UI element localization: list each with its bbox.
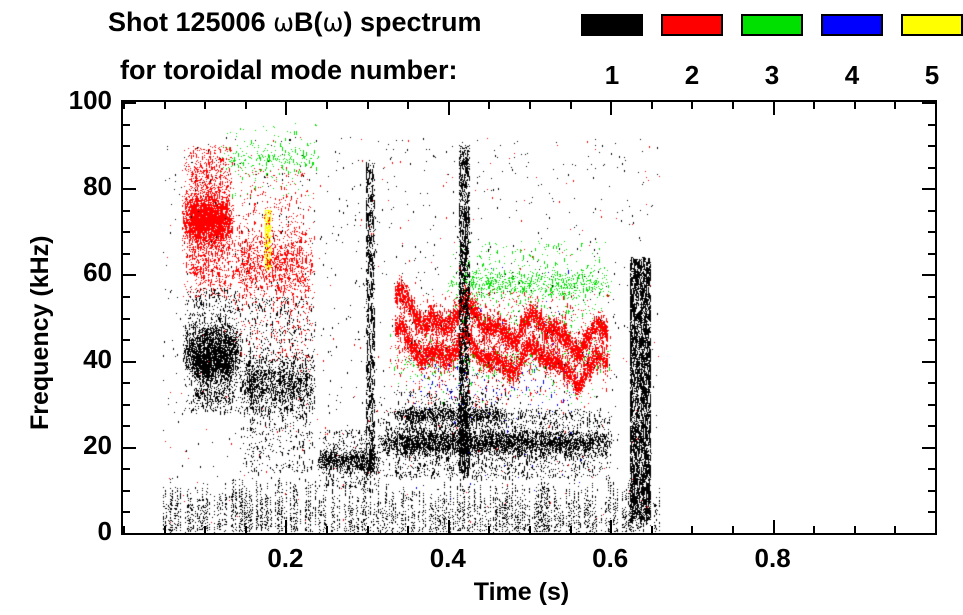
y-tick-right [928,382,935,384]
x-tick-top [204,102,206,109]
y-tick-right [928,167,935,169]
y-tick-left [123,404,130,406]
x-tick-bottom [854,526,856,533]
x-tick-top [367,102,369,109]
y-tick-right [928,318,935,320]
x-tick-label: 0.2 [245,543,325,574]
x-tick-top [285,102,287,115]
figure-title-line2: for toroidal mode number: [120,55,458,86]
y-tick-right [922,361,935,363]
y-tick-right [928,253,935,255]
x-tick-bottom [123,526,125,533]
x-tick-bottom [204,526,206,533]
x-tick-bottom [813,526,815,533]
legend-label-mode-n5: 5 [901,60,963,91]
y-tick-left [123,490,130,492]
y-tick-right [928,210,935,212]
y-tick-right [922,188,935,190]
y-tick-left [123,468,130,470]
legend-label-mode-n4: 4 [821,60,883,91]
title-suffix: ) spectrum [343,7,481,37]
y-tick-right [928,425,935,427]
y-tick-right [928,124,935,126]
x-tick-top [691,102,693,109]
spectrogram-canvas [123,102,935,533]
y-tick-left [123,274,136,276]
y-tick-left [123,425,130,427]
x-tick-top [488,102,490,109]
x-tick-bottom [773,520,775,533]
y-tick-right [928,231,935,233]
x-tick-top [570,102,572,109]
y-tick-left [123,124,130,126]
omega-symbol-1: ω [273,8,294,37]
x-tick-bottom [570,526,572,533]
y-tick-right [928,490,935,492]
legend-label-mode-n1: 1 [581,60,643,91]
x-tick-label: 0.8 [733,543,813,574]
y-tick-left [123,339,130,341]
x-tick-label: 0.6 [570,543,650,574]
legend-label-mode-n2: 2 [661,60,723,91]
x-tick-bottom [448,520,450,533]
y-tick-label: 40 [0,344,112,375]
legend: 12345 [581,14,939,86]
spectrogram-figure: Shot 125006 ωB(ω) spectrum for toroidal … [0,0,963,615]
x-tick-bottom [529,526,531,533]
y-tick-left [123,447,136,449]
x-tick-top [935,102,937,109]
y-tick-label: 100 [0,85,112,116]
x-axis-title: Time (s) [40,578,963,607]
legend-swatch-mode-n3 [741,14,803,36]
y-tick-left [123,361,136,363]
omega-symbol-2: ω [323,8,344,37]
x-tick-top [813,102,815,109]
y-tick-right [928,511,935,513]
x-tick-top [529,102,531,109]
y-tick-right [928,296,935,298]
y-tick-left [123,102,136,104]
y-tick-left [123,318,130,320]
y-tick-right [922,533,935,535]
x-tick-top [854,102,856,109]
legend-swatch-mode-n5 [901,14,963,36]
y-tick-label: 60 [0,257,112,288]
y-tick-right [928,145,935,147]
y-tick-left [123,296,130,298]
y-tick-label: 20 [0,430,112,461]
x-tick-bottom [245,526,247,533]
y-tick-right [922,102,935,104]
x-tick-bottom [691,526,693,533]
x-tick-bottom [732,526,734,533]
y-tick-label: 0 [0,516,112,547]
x-tick-bottom [326,526,328,533]
y-tick-right [928,339,935,341]
figure-title-line1: Shot 125006 ωB(ω) spectrum [108,7,482,38]
x-tick-top [651,102,653,109]
x-tick-top [732,102,734,109]
x-tick-top [894,102,896,109]
y-tick-left [123,188,136,190]
x-tick-top [610,102,612,115]
y-tick-left [123,167,130,169]
y-tick-left [123,253,130,255]
x-tick-bottom [651,526,653,533]
x-tick-bottom [285,520,287,533]
legend-swatch-mode-n1 [581,14,643,36]
y-tick-right [922,447,935,449]
x-tick-top [245,102,247,109]
x-tick-label: 0.4 [408,543,488,574]
y-tick-left [123,382,130,384]
y-tick-right [928,468,935,470]
y-tick-left [123,511,130,513]
x-tick-bottom [407,526,409,533]
y-tick-left [123,533,136,535]
x-tick-bottom [488,526,490,533]
y-tick-left [123,210,130,212]
y-tick-label: 80 [0,171,112,202]
x-tick-top [448,102,450,115]
y-tick-right [928,404,935,406]
x-tick-top [407,102,409,109]
legend-swatch-mode-n2 [661,14,723,36]
x-tick-bottom [164,526,166,533]
y-tick-right [922,274,935,276]
x-tick-bottom [610,520,612,533]
x-tick-top [164,102,166,109]
x-tick-bottom [894,526,896,533]
x-tick-bottom [367,526,369,533]
title-mid: B( [294,7,323,37]
title-prefix: Shot 125006 [108,7,273,37]
legend-swatch-mode-n4 [821,14,883,36]
x-tick-bottom [935,526,937,533]
legend-label-mode-n3: 3 [741,60,803,91]
plot-area [121,100,937,535]
y-tick-left [123,145,130,147]
x-tick-top [773,102,775,115]
y-tick-left [123,231,130,233]
x-tick-top [326,102,328,109]
